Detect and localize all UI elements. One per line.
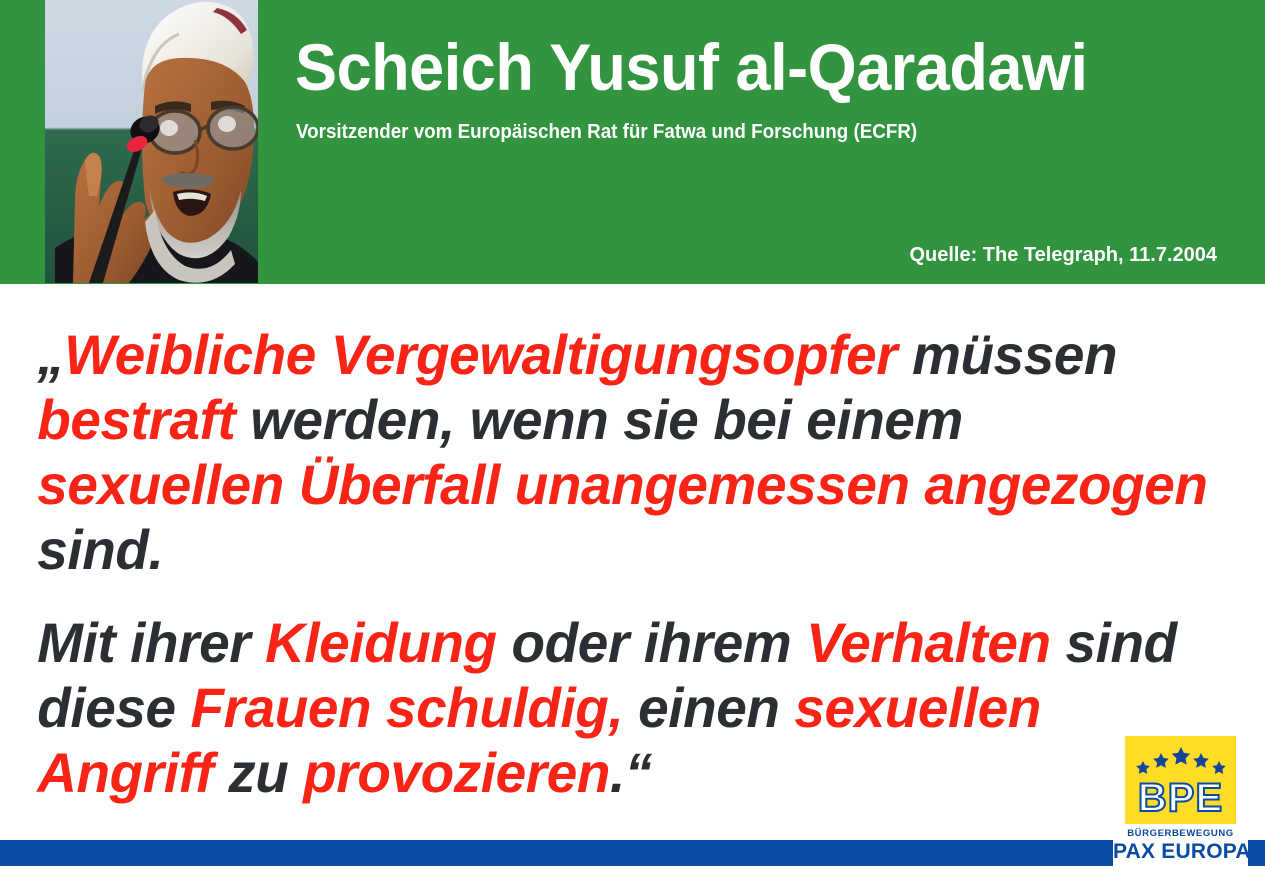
bpe-logo[interactable]: BPE BÜRGERBEWEGUNG PAX EUROPA <box>1113 736 1248 868</box>
eu-stars-icon <box>1125 742 1236 778</box>
quote-run-highlight: Kleidung <box>265 611 497 674</box>
quote-run-plain: sind. <box>37 518 163 581</box>
header-banner: Scheich Yusuf al-Qaradawi Vorsitzender v… <box>0 0 1265 284</box>
logo-org-line-2: PAX EUROPA <box>1113 840 1248 864</box>
quote-run-highlight: Frauen schuldig, <box>190 676 623 739</box>
quote-run-highlight: Verhalten <box>806 611 1051 674</box>
quote-run-plain: einen <box>623 676 794 739</box>
logo-acronym: BPE <box>1125 776 1236 820</box>
page-title: Scheich Yusuf al-Qaradawi <box>295 30 1169 104</box>
portrait-illustration <box>45 0 258 283</box>
quote-paragraph-2: Mit ihrer Kleidung oder ihrem Verhalten … <box>0 582 1240 805</box>
quote-run-highlight: bestraft <box>37 388 235 451</box>
header-text-block: Scheich Yusuf al-Qaradawi Vorsitzender v… <box>290 0 1235 284</box>
quote-paragraph-1: „Weibliche Vergewaltigungsopfer müssen b… <box>0 284 1240 582</box>
quote-run-plain: Mit ihrer <box>37 611 265 674</box>
logo-org-line-1: BÜRGERBEWEGUNG <box>1113 828 1248 839</box>
quote-run-plain: oder ihrem <box>497 611 806 674</box>
source-citation: Quelle: The Telegraph, 11.7.2004 <box>909 243 1217 267</box>
quote-run-highlight: Weibliche Vergewaltigungsopfer <box>64 323 897 386</box>
quote-run-plain: werden, wenn sie bei einem <box>235 388 962 451</box>
quote-run-plain: “ <box>625 741 652 804</box>
quote-run-plain: . <box>610 741 625 804</box>
quote-run-plain: zu <box>213 741 303 804</box>
portrait-photo <box>45 0 258 283</box>
footer-blue-bar <box>0 840 1265 866</box>
quote-run-highlight: sexuellen Überfall unangemessen angezoge… <box>37 453 1207 516</box>
page-subtitle: Vorsitzender vom Europäischen Rat für Fa… <box>296 120 917 144</box>
quote-run-highlight: provozieren <box>303 741 610 804</box>
quote-body: „Weibliche Vergewaltigungsopfer müssen b… <box>0 284 1265 840</box>
quote-run-plain: „ <box>37 323 64 386</box>
quote-run-plain: müssen <box>897 323 1117 386</box>
